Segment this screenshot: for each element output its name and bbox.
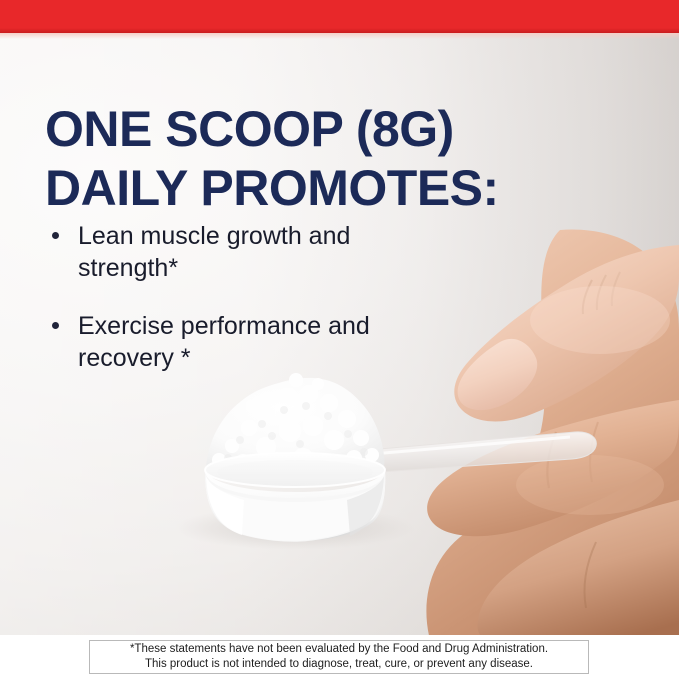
disclaimer-line-2: This product is not intended to diagnose…: [90, 657, 588, 672]
list-item: Lean muscle growth and strength*: [48, 220, 448, 284]
headline-line-1: ONE SCOOP (8G): [45, 100, 605, 159]
bullet-point-icon: [52, 232, 59, 239]
top-red-bar-shadow: [0, 28, 679, 33]
top-red-bar-glow: [0, 33, 679, 39]
headline-line-2: DAILY PROMOTES:: [45, 159, 605, 218]
benefit-text: Exercise performance and recovery *: [78, 312, 370, 372]
headline: ONE SCOOP (8G) DAILY PROMOTES:: [45, 100, 605, 218]
product-infographic: ONE SCOOP (8G) DAILY PROMOTES: Lean musc…: [0, 0, 679, 679]
footer: *These statements have not been evaluate…: [0, 635, 679, 679]
disclaimer-line-1: *These statements have not been evaluate…: [90, 642, 588, 657]
benefit-text: Lean muscle growth and strength*: [78, 222, 350, 282]
list-item: Exercise performance and recovery *: [48, 310, 448, 374]
benefits-list: Lean muscle growth and strength* Exercis…: [48, 220, 448, 400]
disclaimer-box: *These statements have not been evaluate…: [89, 640, 589, 674]
bullet-point-icon: [52, 322, 59, 329]
